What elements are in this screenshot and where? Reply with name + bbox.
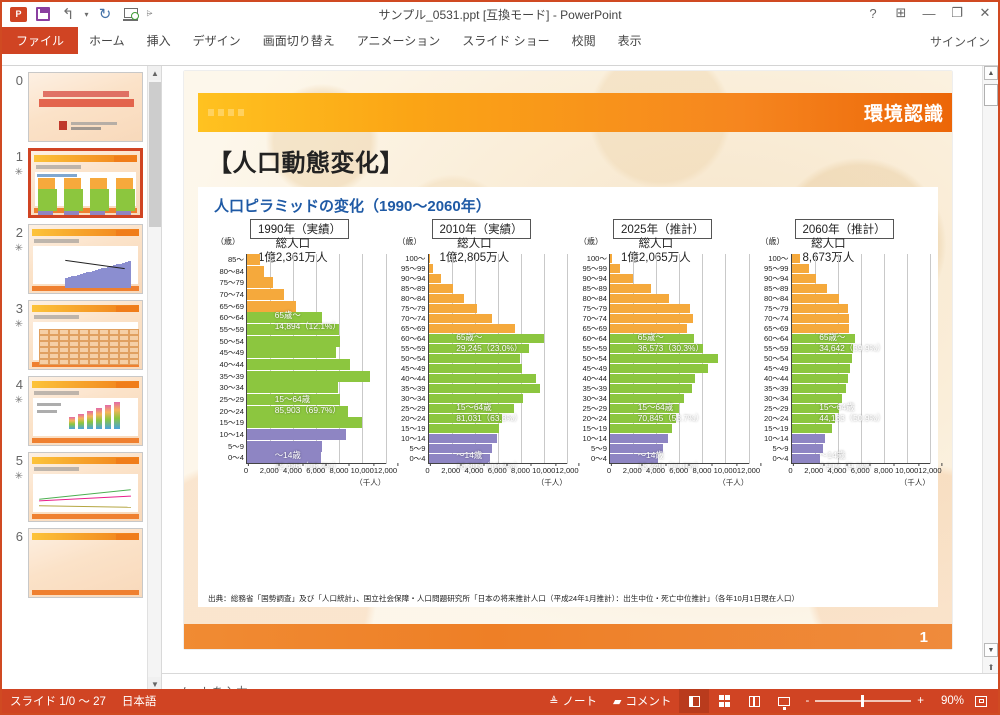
age-label: 10～14 [583,435,608,443]
age-label: 30～34 [401,395,426,403]
age-label: 5～9 [228,443,244,451]
thumbnail-row[interactable]: 6 [2,522,161,598]
bar-100～ [792,254,800,263]
segment-annotation-1: 15～64歳44,183（50.9%） [819,402,885,424]
age-label: 55～59 [220,326,245,334]
bar-80～84 [610,294,669,303]
age-label: 30～34 [764,395,789,403]
age-label: 45～49 [764,365,789,373]
age-axis: 100～95～9990～9485～8980～8475～7970～7465～696… [751,254,791,464]
age-label: 70～74 [764,315,789,323]
bar-45～49 [247,347,336,358]
slide-thumbnail-3[interactable] [28,300,143,370]
chart-header: 1990年（実績） [250,219,349,239]
scroll-up-icon[interactable]: ▲ [984,66,998,80]
chart-header: 2060年（推計） [795,219,894,239]
bar-70～74 [792,314,850,323]
age-label: 0～4 [409,455,425,463]
x-tick-label: 10,000 [351,466,374,475]
age-label: 40～44 [764,375,789,383]
y-axis-unit: （歳） [579,236,603,247]
tab-transitions[interactable]: 画面切り替え [252,28,346,54]
bar-15～19 [610,424,672,433]
x-tick-label: 6,000 [669,466,688,475]
x-axis-unit: （千人） [718,477,748,488]
age-label: 35～39 [220,373,245,381]
y-axis-unit: （歳） [398,236,422,247]
tab-view[interactable]: 表示 [607,28,653,54]
plot-area: 65歳～14,894（12.1%）15～64歳85,903（69.7%）～14歳… [246,254,386,464]
x-tick-label: 4,000 [646,466,665,475]
age-label: 65～69 [220,303,245,311]
age-label: 10～14 [220,431,245,439]
x-axis-line [428,463,568,464]
bar-75～79 [429,304,477,313]
bar-35～39 [610,384,692,393]
tab-review[interactable]: 校閲 [561,28,607,54]
thumbnail-number: 3✳ [6,300,28,330]
x-tick-label: 8,000 [329,466,348,475]
zoom-out-button[interactable]: - [805,695,809,707]
age-label: 45～49 [220,349,245,357]
restore-icon[interactable]: ❐ [950,5,964,21]
tab-animations[interactable]: アニメーション [346,28,452,54]
thumbnail-row[interactable]: 5✳ [2,446,161,522]
bar-70～74 [429,314,492,323]
age-label: 40～44 [401,375,426,383]
age-label: 60～64 [764,335,789,343]
gridline [861,254,862,464]
normal-view-icon[interactable] [679,689,709,713]
age-label: 55～59 [764,345,789,353]
age-label: 20～24 [401,415,426,423]
zoom-level[interactable]: 90% [930,695,964,707]
bar-95～99 [429,264,434,273]
thumbnail-number: 4✳ [6,376,28,406]
age-label: 85～89 [764,285,789,293]
age-label: 15～19 [764,425,789,433]
age-label: 90～94 [583,275,608,283]
slide-header-band: 環境認識 [198,93,952,132]
bar-35～39 [792,384,846,393]
x-tick-label: 12,000 [918,466,941,475]
age-label: 75～79 [583,305,608,313]
y-axis-unit: （歳） [216,236,240,247]
x-tick-label: 0 [788,466,792,475]
age-label: 25～29 [764,405,789,413]
age-label: 20～24 [764,415,789,423]
comments-button-label: コメント [625,693,671,709]
ribbon-body [2,54,998,66]
comment-icon: ▰ [613,695,621,708]
age-label: 30～34 [583,395,608,403]
section-label: 環境認識 [864,99,944,126]
animation-star-icon: ✳ [6,244,23,254]
bar-50～54 [610,354,718,363]
x-tick-label: 6,000 [488,466,507,475]
tick-mark [248,463,249,466]
bar-15～19 [429,424,499,433]
sign-in-link[interactable]: サインイン [930,33,990,50]
tick-mark [611,463,612,466]
bar-85～89 [792,284,828,293]
age-label: 10～14 [764,435,789,443]
age-label: 65～69 [583,325,608,333]
age-label: 75～79 [220,279,245,287]
age-label: 80～84 [764,295,789,303]
ribbon-tabs: ファイル ホーム 挿入 デザイン 画面切り替え アニメーション スライド ショー… [2,28,998,54]
thumbnail-number: 5✳ [6,452,28,482]
age-label: 90～94 [401,275,426,283]
bar-75～79 [792,304,849,313]
tick-mark [642,463,643,466]
close-icon[interactable]: ✕ [978,5,992,21]
tick-mark [325,463,326,466]
age-label: 75～79 [401,305,426,313]
age-label: 15～19 [401,425,426,433]
bar-15～19 [792,424,832,433]
age-label: 50～54 [764,355,789,363]
age-label: 85～ [228,256,244,264]
bar-90～94 [792,274,816,283]
age-label: 50～54 [583,355,608,363]
x-axis-line [791,463,931,464]
age-label: 20～24 [583,415,608,423]
thumbnail-row[interactable]: 0 [2,66,161,142]
x-axis-line [246,463,386,464]
age-label: 25～29 [583,405,608,413]
age-label: 50～54 [401,355,426,363]
age-label: 100～ [405,255,425,263]
reading-view-icon[interactable] [739,689,769,713]
x-tick-label: 2,000 [260,466,279,475]
x-tick-label: 0 [607,466,611,475]
bar-40～44 [247,359,350,370]
bar-35～39 [429,384,541,393]
age-label: 35～39 [764,385,789,393]
fit-to-window-icon[interactable] [970,689,992,713]
tick-mark [847,463,848,466]
slide-thumbnail-pane[interactable]: 0 1✳ 2✳ 3✳ 4✳ [2,66,162,691]
thumbnail-number: 6 [6,528,28,543]
tick-mark [430,463,431,466]
thumbnail-row[interactable]: 4✳ [2,370,161,446]
minimize-icon[interactable]: — [922,6,936,21]
bar-10～14 [610,434,668,443]
gridline [386,254,387,464]
powerpoint-window: P ↰ ▾ ↻ ⩥ サンプル_0531.ppt [互換モード] - PowerP… [0,0,1000,715]
age-label: 95～99 [583,265,608,273]
age-label: 15～19 [220,419,245,427]
age-label: 60～64 [401,335,426,343]
scrollbar-thumb[interactable] [984,84,998,106]
language-indicator[interactable]: 日本語 [122,693,157,709]
comments-button[interactable]: ▰ コメント [605,689,679,713]
animation-star-icon: ✳ [6,320,23,330]
pyramid-chart-2: （歳） 2025年（推計） 総人口1億2,065万人 100～95～9990～9… [569,219,751,507]
tab-file[interactable]: ファイル [2,27,78,54]
panel-title: 人口ピラミッドの変化（1990～2060年） [214,195,491,216]
age-label: 0～4 [228,454,244,462]
thumbnail-row[interactable]: 3✳ [2,294,161,370]
zoom-slider-knob[interactable] [861,695,864,707]
thumbnail-scrollbar-thumb[interactable] [149,82,161,227]
x-tick-label: 10,000 [532,466,555,475]
age-label: 55～59 [401,345,426,353]
bar-50～54 [429,354,520,363]
age-label: 40～44 [583,375,608,383]
bar-10～14 [247,429,346,440]
slide-thumbnail-5[interactable] [28,452,143,522]
tick-mark [893,463,894,466]
tab-slideshow[interactable]: スライド ショー [451,28,560,54]
age-label: 50～54 [220,338,245,346]
pyramid-chart-1: （歳） 2010年（実績） 総人口1億2,805万人 100～95～9990～9… [388,219,570,507]
bar-50～54 [247,336,340,347]
age-label: 5～9 [772,445,788,453]
bar-40～44 [610,374,695,383]
age-label: 30～34 [220,384,245,392]
x-tick-label: 2,000 [441,466,460,475]
age-label: 95～99 [764,265,789,273]
window-title: サンプル_0531.ppt [互換モード] - PowerPoint [2,6,998,23]
zoom-in-button[interactable]: + [917,695,924,707]
tab-home[interactable]: ホーム [78,28,136,54]
slide-canvas-area: 環境認識 【人口動態変化】 人口ピラミッドの変化（1990～2060年） （歳）… [162,66,998,691]
slide-thumbnail-1[interactable] [28,148,143,218]
bar-70～74 [247,289,284,300]
gridline [884,254,885,464]
bar-70～74 [610,314,693,323]
age-label: 65～69 [764,325,789,333]
thumbnail-scroll-up-icon[interactable]: ▲ [148,66,162,80]
bar-85～ [247,254,260,265]
x-tick-label: 4,000 [464,466,483,475]
bar-15～19 [247,417,362,428]
tab-design[interactable]: デザイン [182,28,252,54]
bar-80～84 [429,294,464,303]
slide-footer-band [184,624,952,649]
age-label: 80～84 [401,295,426,303]
zoom-slider[interactable] [815,700,911,702]
age-label: 100～ [768,255,788,263]
pyramid-chart-0: （歳） 1990年（実績） 総人口1億2,361万人 85～80～8475～79… [206,219,388,507]
tick-mark [688,463,689,466]
thumbnail-number: 2✳ [6,224,28,254]
gridline [544,254,545,464]
slide-1[interactable]: 環境認識 【人口動態変化】 人口ピラミッドの変化（1990～2060年） （歳）… [184,71,952,649]
status-bar: スライド 1/0 ～ 27 日本語 ≜ ノート ▰ コメント - [2,689,998,713]
age-axis: 100～95～9990～9485～8980～8475～7970～7465～696… [569,254,609,464]
ribbon-display-options-icon[interactable]: ⊞ [894,5,908,21]
bar-95～99 [792,264,809,273]
age-label: 20～24 [220,408,245,416]
slide-indicator: スライド 1/0 ～ 27 [10,693,106,709]
tick-mark [507,463,508,466]
plot-area: 65歳～34,642（39.9%）15～64歳44,183（50.9%）～14歳… [791,254,931,464]
pyramid-chart-3: （歳） 2060年（推計） 総人口8,673万人 100～95～9990～948… [751,219,933,507]
slide-sorter-view-icon[interactable] [709,689,739,713]
chart-header: 2025年（推計） [613,219,712,239]
slide-thumbnail-0[interactable] [28,72,143,142]
age-label: 70～74 [583,315,608,323]
notes-button[interactable]: ≜ ノート [541,689,605,713]
gridline [749,254,750,464]
ribbon-tab-bar: ファイル ホーム 挿入 デザイン 画面切り替え アニメーション スライド ショー… [2,28,998,54]
age-label: 70～74 [220,291,245,299]
age-label: 80～84 [220,268,245,276]
x-axis-unit: （千人） [355,477,385,488]
segment-annotation-0: 65歳～29,245（23.0%） [456,332,522,354]
bar-45～49 [429,364,522,373]
bar-85～89 [610,284,651,293]
notes-button-label: ノート [562,693,597,709]
age-label: 45～49 [401,365,426,373]
age-label: 5～9 [409,445,425,453]
gridline [907,254,908,464]
x-tick-label: 8,000 [874,466,893,475]
x-tick-label: 2,000 [623,466,642,475]
age-label: 5～9 [591,445,607,453]
tick-mark [460,463,461,466]
age-label: 0～4 [772,455,788,463]
thumbnail-scrollbar[interactable]: ▲ ▼ [147,66,161,691]
age-axis: 100～95～9990～9485～8980～8475～7970～7465～696… [388,254,428,464]
age-label: 15～19 [583,425,608,433]
bar-90～94 [610,274,633,283]
bar-10～14 [429,434,497,443]
bar-5～9 [792,444,823,453]
bar-75～79 [610,304,690,313]
notes-icon: ≜ [549,695,558,708]
age-label: 25～29 [401,405,426,413]
canvas-vertical-scrollbar[interactable]: ▲ ▼ ⬆ ⬇ [982,66,998,691]
age-label: 40～44 [220,361,245,369]
age-label: 85～89 [583,285,608,293]
segment-annotation-0: 65歳～14,894（12.1%） [275,310,341,332]
age-label: 35～39 [583,385,608,393]
population-pyramid-charts: （歳） 1990年（実績） 総人口1億2,361万人 85～80～8475～79… [206,219,932,507]
segment-annotation-0: 65歳～34,642（39.9%） [819,332,885,354]
bar-35～39 [247,371,370,382]
tab-insert[interactable]: 挿入 [136,28,182,54]
age-label: 100～ [587,255,607,263]
title-bar: P ↰ ▾ ↻ ⩥ サンプル_0531.ppt [互換モード] - PowerP… [2,2,998,28]
bar-30～34 [247,382,338,393]
slide-title: 【人口動態変化】 [208,143,404,178]
bar-50～54 [792,354,852,363]
bar-40～44 [792,374,849,383]
segment-annotation-1: 15～64歳81,031（63.8%） [456,402,522,424]
zoom-control[interactable]: - + 90% [799,695,970,707]
tick-mark [484,463,485,466]
segment-annotation-0: 65歳～36,573（30.3%） [638,332,704,354]
age-label: 85～89 [401,285,426,293]
gridline [362,254,363,464]
chart-header: 2010年（実績） [432,219,531,239]
age-label: 25～29 [220,396,245,404]
x-tick-label: 0 [244,466,248,475]
gridline [567,254,568,464]
tick-mark [823,463,824,466]
thumbnail-row[interactable]: 1✳ [2,142,161,218]
bar-100～ [610,254,612,263]
plot-area: 65歳～29,245（23.0%）15～64歳81,031（63.8%）～14歳… [428,254,568,464]
tick-mark [302,463,303,466]
x-tick-label: 10,000 [895,466,918,475]
age-label: 0～4 [591,455,607,463]
status-left: スライド 1/0 ～ 27 日本語 [2,693,156,709]
thumbnail-row[interactable]: 2✳ [2,218,161,294]
bar-90～94 [429,274,442,283]
thumbnail-number: 0 [6,72,28,87]
bar-45～49 [792,364,851,373]
x-tick-label: 0 [425,466,429,475]
source-note: 出典：総務省「国勢調査」及び「人口統計」、国立社会保障・人口問題研究所「日本の将… [208,593,928,604]
slide-thumbnail-2[interactable] [28,224,143,294]
y-axis-unit: （歳） [761,236,785,247]
x-tick-label: 4,000 [283,466,302,475]
slide-thumbnail-4[interactable] [28,376,143,446]
scroll-down-icon[interactable]: ▼ [984,643,998,657]
segment-annotation-1: 15～64歳85,903（69.7%） [275,394,341,416]
bar-10～14 [792,434,825,443]
x-axis-unit: （千人） [900,477,930,488]
animation-star-icon: ✳ [6,396,23,406]
thumbnail-number: 1✳ [6,148,28,178]
main-area: 0 1✳ 2✳ 3✳ 4✳ [2,66,998,691]
gridline [930,254,931,464]
bar-85～89 [429,284,453,293]
age-label: 10～14 [401,435,426,443]
x-tick-label: 2,000 [804,466,823,475]
segment-annotation-1: 15～64歳70,845（58.7%） [638,402,704,424]
bar-100～ [429,254,430,263]
window-controls: ? ⊞ — ❐ ✕ [866,5,992,21]
x-axis-line [609,463,749,464]
age-label: 65～69 [401,325,426,333]
bar-75～79 [247,277,273,288]
animation-star-icon: ✳ [6,168,23,178]
slideshow-view-icon[interactable] [769,689,799,713]
bar-95～99 [610,264,620,273]
gridline [725,254,726,464]
header-squares-decoration [208,109,244,116]
tick-mark [665,463,666,466]
content-panel: 人口ピラミッドの変化（1990～2060年） （歳） 1990年（実績） 総人口… [198,187,938,607]
age-label: 60～64 [583,335,608,343]
bar-40～44 [429,374,536,383]
bar-80～84 [792,294,840,303]
previous-slide-icon[interactable]: ⬆ [986,663,996,672]
slide-thumbnail-6[interactable] [28,528,143,598]
tick-mark [793,463,794,466]
tick-mark [870,463,871,466]
age-label: 35～39 [401,385,426,393]
bar-45～49 [610,364,708,373]
age-label: 95～99 [401,265,426,273]
x-tick-label: 6,000 [306,466,325,475]
x-tick-label: 6,000 [851,466,870,475]
tick-mark [279,463,280,466]
age-label: 75～79 [764,305,789,313]
x-tick-label: 10,000 [714,466,737,475]
status-right: ≜ ノート ▰ コメント - + 90% [541,689,998,713]
age-label: 60～64 [220,314,245,322]
help-icon[interactable]: ? [866,6,880,21]
age-axis: 85～80～8475～7970～7465～6960～6455～5950～5445… [206,254,246,464]
age-label: 80～84 [583,295,608,303]
